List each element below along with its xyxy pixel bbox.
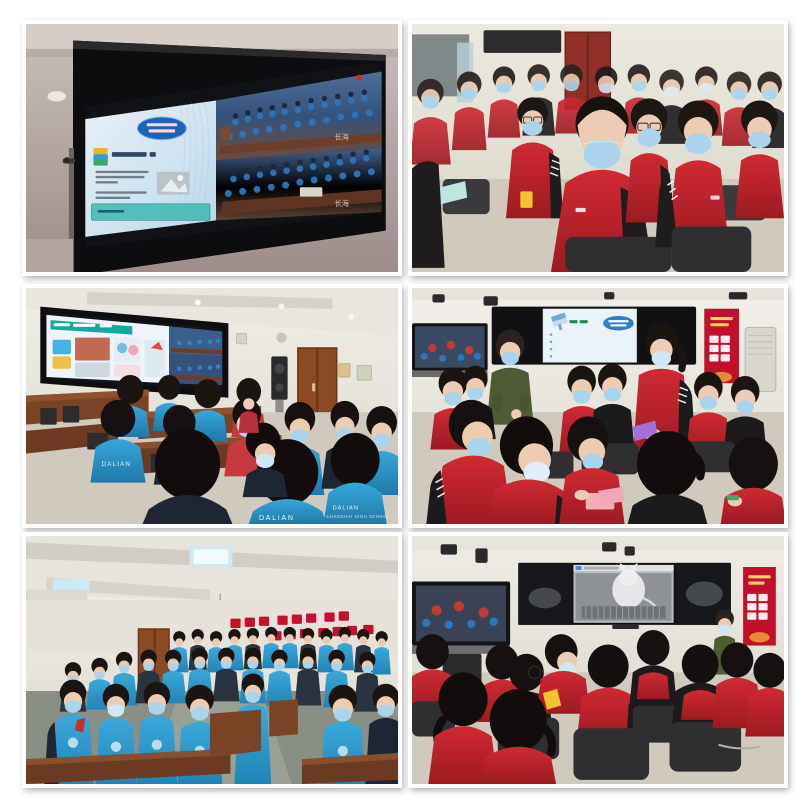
photo-frame-3: DALIAN — [22, 284, 402, 528]
photo-frame-5 — [22, 532, 402, 788]
photo-frame-6 — [408, 532, 788, 788]
svg-text:CHANGHAI HIGH SCHOOL: CHANGHAI HIGH SCHOOL — [326, 514, 390, 519]
photo-2-seated-students-red-uniform — [412, 24, 784, 272]
photo-4-classroom-discussion — [412, 288, 784, 524]
svg-text:长海: 长海 — [335, 133, 349, 142]
photo-5-standing-assembly-blue-uniform — [26, 536, 398, 784]
panel-3-artwork: DALIAN — [26, 288, 398, 524]
panel-1-artwork: 长海 长海 — [26, 24, 398, 272]
svg-text:DALIAN: DALIAN — [259, 513, 295, 522]
svg-text:DALIAN: DALIAN — [333, 505, 359, 511]
panel-5-artwork — [26, 536, 398, 784]
panel-4-artwork — [412, 288, 784, 524]
photo-1-auditorium-led-wall: 长海 长海 — [26, 24, 398, 272]
panel-2-artwork — [412, 24, 784, 272]
svg-text:DALIAN: DALIAN — [102, 461, 131, 468]
photo-collage: 长海 长海 — [0, 0, 802, 802]
photo-frame-4 — [408, 284, 788, 528]
panel-6-artwork — [412, 536, 784, 784]
photo-frame-1: 长海 长海 — [22, 20, 402, 276]
photo-3-lecture-hall-blue-uniform: DALIAN — [26, 288, 398, 524]
photo-frame-2 — [408, 20, 788, 276]
svg-text:长海: 长海 — [335, 199, 349, 208]
photo-6-classroom-video-viewing — [412, 536, 784, 784]
